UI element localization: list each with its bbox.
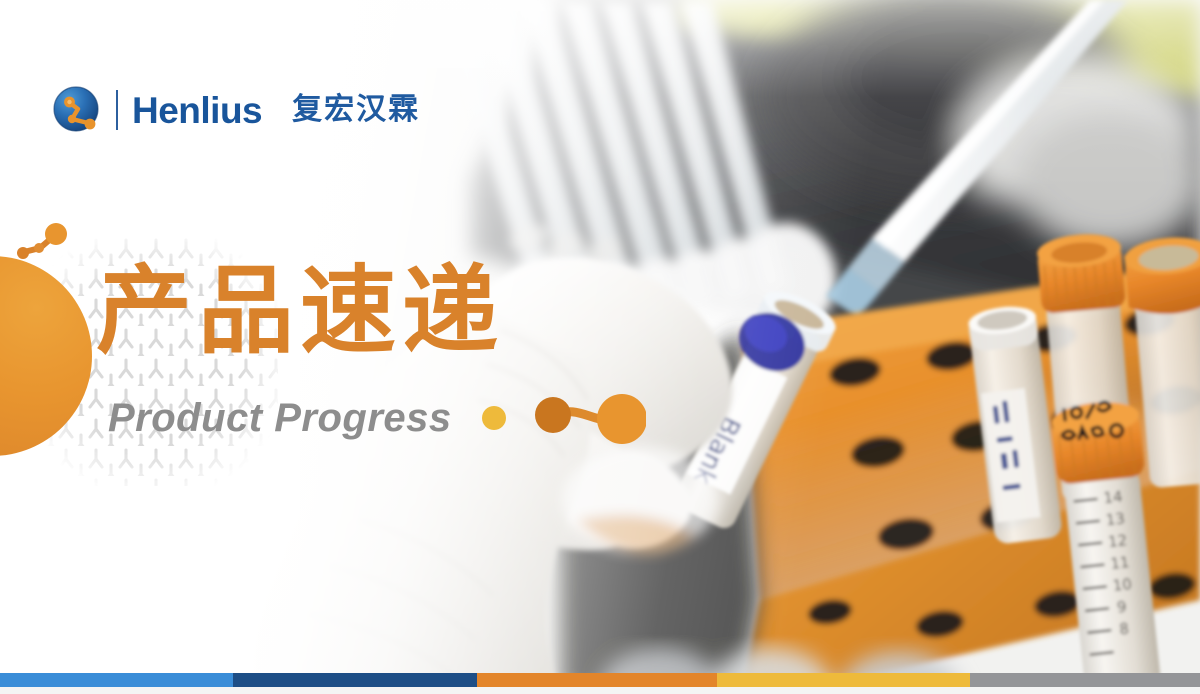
svg-text:9: 9 [1116, 598, 1127, 617]
svg-text:8: 8 [1118, 619, 1129, 638]
segment-light-blue [0, 673, 233, 687]
page-title-chinese: 产品速递 [96, 262, 504, 363]
svg-text:10: 10 [1112, 575, 1133, 595]
slide-root: 14 13 12 11 10 9 8 [0, 0, 1200, 694]
segment-yellow [717, 673, 970, 687]
svg-text:14: 14 [1103, 487, 1124, 507]
bottom-color-bar [0, 673, 1200, 687]
svg-text:12: 12 [1107, 531, 1128, 551]
logo-wordmark: Henlius [132, 92, 262, 129]
henlius-logo-mark [50, 83, 104, 137]
svg-text:11: 11 [1109, 553, 1130, 573]
svg-text:13: 13 [1105, 509, 1126, 529]
molecule-decoration-small [14, 222, 70, 266]
yellow-dot-decoration [482, 406, 506, 430]
page-title-english: Product Progress [108, 396, 452, 440]
segment-dark-blue [233, 673, 477, 687]
bottom-white-strip [0, 687, 1200, 694]
molecule-decoration-large [534, 392, 646, 446]
segment-gray [970, 673, 1200, 687]
logo-chinese-name: 复宏汉霖 [292, 95, 420, 125]
logo-divider [116, 90, 118, 130]
henlius-logo[interactable]: Henlius 复宏汉霖 [50, 82, 420, 138]
segment-orange [477, 673, 717, 687]
